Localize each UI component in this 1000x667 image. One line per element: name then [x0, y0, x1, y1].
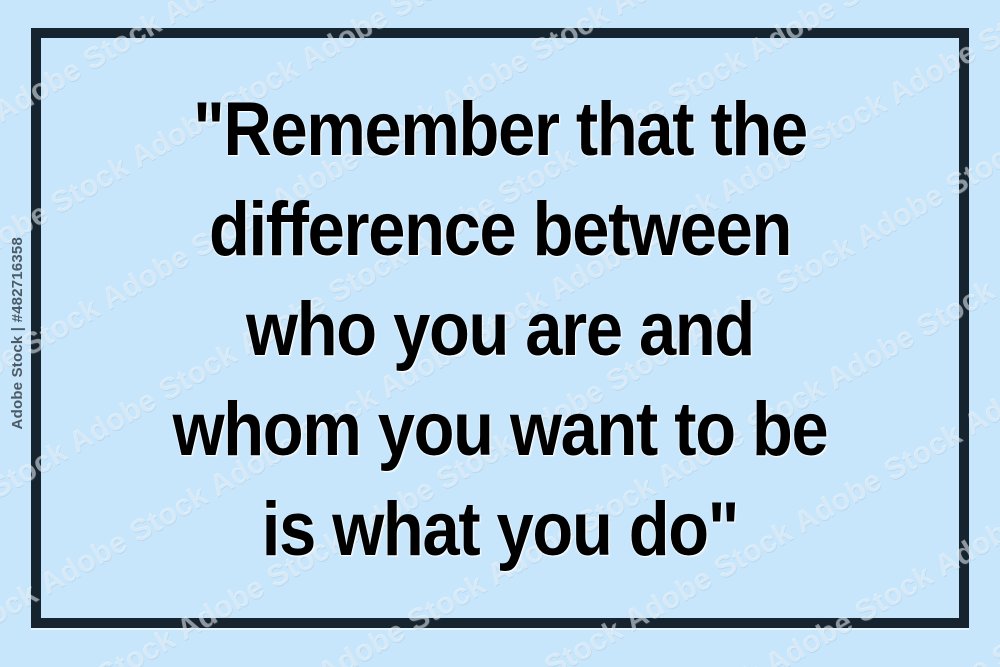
poster-frame-inner — [41, 38, 959, 618]
stock-attribution: Adobe Stock | #482716358 — [4, 0, 30, 667]
stock-attribution-label: Adobe Stock | #482716358 — [9, 237, 26, 429]
quote-poster: Adobe StockAdobe StockAdobe StockAdobe S… — [0, 0, 1000, 667]
watermark-text: Adobe Stock — [0, 0, 222, 21]
watermark-text: Adobe Stock — [972, 140, 1000, 332]
watermark-text: Adobe Stock — [124, 630, 348, 667]
watermark-text: Adobe Stock — [446, 0, 670, 12]
poster-frame — [31, 28, 969, 628]
watermark-text: Adobe Stock — [894, 0, 1000, 3]
